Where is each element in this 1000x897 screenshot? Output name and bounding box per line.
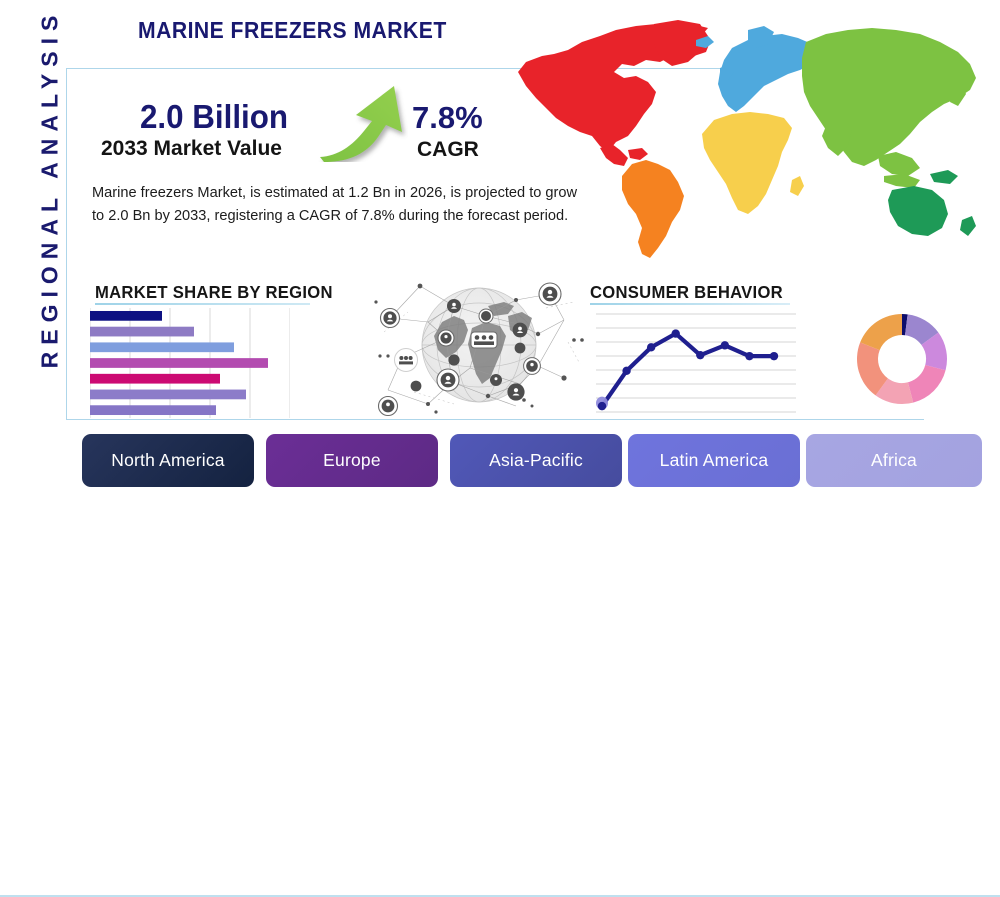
market-value-caption: 2033 Market Value xyxy=(101,137,282,161)
region-button-africa[interactable]: Africa xyxy=(806,434,982,487)
line-marker xyxy=(745,352,753,360)
map-region-new-zealand xyxy=(960,216,976,236)
line-marker xyxy=(770,352,778,360)
map-region-southeast-asia xyxy=(878,152,920,176)
line-marker xyxy=(721,341,729,349)
map-region-south-america xyxy=(622,160,684,258)
region-label: Asia-Pacific xyxy=(489,450,583,471)
region-connector-line xyxy=(0,895,1000,897)
map-region-new-guinea xyxy=(930,170,958,184)
donut-segment xyxy=(908,365,946,403)
cagr-figure: 7.8% xyxy=(412,100,483,136)
donut-segment xyxy=(860,314,902,350)
region-button-asia-pacific[interactable]: Asia-Pacific xyxy=(450,434,622,487)
global-network-illustration xyxy=(368,272,590,423)
consumer-behavior-line-chart xyxy=(596,306,796,423)
market-share-bar-chart xyxy=(90,308,290,423)
map-region-africa xyxy=(702,112,792,214)
bar-item xyxy=(90,374,220,384)
bar-item xyxy=(90,390,246,400)
line-marker xyxy=(647,343,655,351)
section-rule-market-share xyxy=(95,303,310,305)
cagr-caption: CAGR xyxy=(417,138,479,162)
map-region-caribbean xyxy=(628,148,648,160)
section-title-market-share: MARKET SHARE BY REGION xyxy=(95,282,333,303)
page-title: MARINE FREEZERS MARKET xyxy=(138,17,447,44)
line-marker xyxy=(696,351,704,359)
map-region-madagascar xyxy=(790,176,804,196)
bar-item xyxy=(90,342,234,352)
region-label: Africa xyxy=(871,450,917,471)
region-button-north-america[interactable]: North America xyxy=(82,434,254,487)
bar-item xyxy=(90,358,268,368)
region-button-europe[interactable]: Europe xyxy=(266,434,438,487)
vertical-section-label: REGIONAL ANALYSIS xyxy=(37,0,64,389)
section-title-consumer-behavior: CONSUMER BEHAVIOR xyxy=(590,282,783,303)
bar-item xyxy=(90,327,194,337)
infographic-canvas: REGIONAL ANALYSIS MARINE FREEZERS MARKET… xyxy=(0,0,1000,500)
world-map-illustration xyxy=(496,14,996,275)
map-region-australia xyxy=(888,186,948,236)
map-region-indonesia xyxy=(884,174,920,188)
region-button-latin-america[interactable]: Latin America xyxy=(628,434,800,487)
bar-item xyxy=(90,311,162,321)
region-label: Europe xyxy=(323,450,381,471)
map-region-central-america xyxy=(600,144,628,166)
line-marker xyxy=(672,329,680,337)
region-button-row: North America Europe Asia-Pacific Latin … xyxy=(0,434,1000,490)
market-value-figure: 2.0 Billion xyxy=(140,98,288,136)
bar-item xyxy=(90,405,216,415)
section-rule-consumer-behavior xyxy=(590,303,790,305)
growth-arrow-icon xyxy=(316,84,408,167)
people-group-icon xyxy=(471,332,497,348)
region-label: North America xyxy=(111,450,224,471)
line-marker xyxy=(598,402,606,410)
people-group-icon xyxy=(395,349,418,372)
region-label: Latin America xyxy=(660,450,769,471)
consumer-behavior-donut-chart xyxy=(855,312,949,411)
line-marker xyxy=(622,367,630,375)
